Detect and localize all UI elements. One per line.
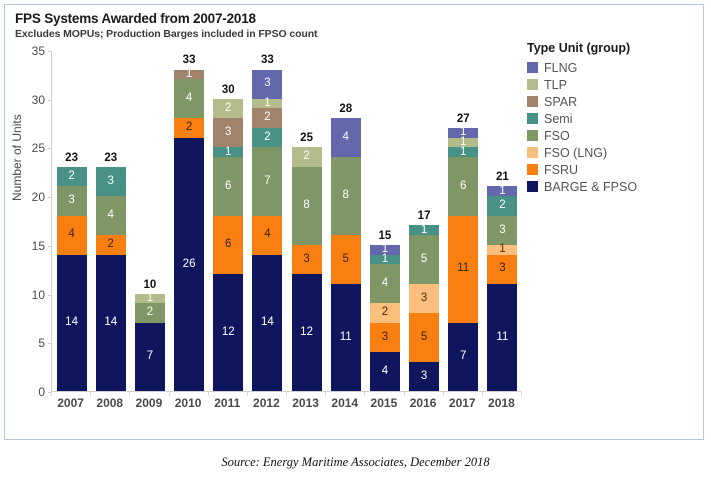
bar-segment-value: 4 xyxy=(343,132,349,144)
bar-segment[interactable]: 14 xyxy=(252,255,282,391)
legend-item-label: FSO xyxy=(544,129,570,143)
bar-total-label: 33 xyxy=(252,54,282,66)
chart-subtitle: Excludes MOPUs; Production Barges includ… xyxy=(15,28,317,40)
x-axis-tick-mark xyxy=(482,392,483,396)
y-axis-tick-label: 5 xyxy=(38,336,45,350)
x-axis-tick-label: 2014 xyxy=(330,396,360,410)
bar-column[interactable]: 432411 xyxy=(370,245,400,391)
bar-column[interactable]: 721 xyxy=(135,294,165,391)
legend-item[interactable]: Semi xyxy=(527,110,697,127)
bar-segment[interactable]: 3 xyxy=(213,118,243,147)
legend-title: Type Unit (group) xyxy=(527,41,697,55)
bar-column[interactable]: 14472213 xyxy=(252,70,282,391)
y-axis-tick-label: 15 xyxy=(32,239,45,253)
x-axis-tick-label: 2007 xyxy=(56,396,86,410)
bar-segment-value: 2 xyxy=(186,122,192,134)
y-axis-tick-label: 35 xyxy=(32,44,45,58)
bar-segment-value: 8 xyxy=(303,200,309,212)
source-note: Source: Energy Maritime Associates, Dece… xyxy=(0,455,711,470)
bar-segment[interactable]: 3 xyxy=(409,284,439,313)
bar-segment[interactable]: 4 xyxy=(174,79,204,118)
bar-segment[interactable]: 14 xyxy=(96,255,126,391)
bar-column[interactable]: 7116111 xyxy=(448,128,478,391)
bar-segment[interactable]: 3 xyxy=(96,167,126,196)
bar-total-label: 15 xyxy=(370,230,400,242)
bar-segment[interactable]: 1 xyxy=(252,99,282,109)
bar-total-label: 33 xyxy=(174,54,204,66)
bar-segment-value: 2 xyxy=(108,239,114,251)
bar-segment[interactable]: 1 xyxy=(370,245,400,255)
bar-segment-value: 1 xyxy=(264,98,270,110)
bar-segment[interactable]: 12 xyxy=(213,274,243,391)
bar-segment-value: 3 xyxy=(303,254,309,266)
bar-total-label: 28 xyxy=(331,103,361,115)
x-axis-tick-mark xyxy=(521,392,522,396)
x-axis-tick-mark xyxy=(208,392,209,396)
x-axis-tick-mark xyxy=(325,392,326,396)
bar-segment[interactable]: 2 xyxy=(213,99,243,118)
bar-segment[interactable]: 5 xyxy=(409,235,439,284)
bar-segment[interactable]: 11 xyxy=(487,284,517,391)
bar-segment[interactable]: 1 xyxy=(409,225,439,235)
bar-segment[interactable]: 4 xyxy=(252,216,282,255)
y-axis-tick-label: 10 xyxy=(32,288,45,302)
bar-column[interactable]: 26241 xyxy=(174,70,204,392)
y-axis-tick-label: 25 xyxy=(32,141,45,155)
bar-column[interactable]: 35351 xyxy=(409,225,439,391)
bar-segment[interactable]: 4 xyxy=(370,264,400,303)
bar-column[interactable]: 14243 xyxy=(96,167,126,391)
bar-segment[interactable]: 1 xyxy=(448,128,478,138)
bar-segment-value: 5 xyxy=(421,332,427,344)
bar-segment-value: 2 xyxy=(68,171,74,183)
bar-segment-value: 2 xyxy=(264,132,270,144)
x-axis-tick-label: 2017 xyxy=(447,396,477,410)
bar-segment-value: 4 xyxy=(186,93,192,105)
x-axis-tick-mark xyxy=(51,392,52,396)
bar-segment-value: 3 xyxy=(421,293,427,305)
legend-item[interactable]: FSO xyxy=(527,127,697,144)
bar-total-label: 23 xyxy=(57,152,87,164)
bar-segment-value: 1 xyxy=(147,293,153,305)
bar-segment-value: 1 xyxy=(421,225,427,237)
bar-segment[interactable]: 3 xyxy=(487,255,517,284)
bar-segment-value: 4 xyxy=(264,229,270,241)
bar-segment[interactable]: 4 xyxy=(331,118,361,157)
bar-segment-value: 3 xyxy=(382,332,388,344)
bar-segment[interactable]: 1 xyxy=(174,70,204,80)
bar-segment-value: 5 xyxy=(421,254,427,266)
bar-segment[interactable]: 8 xyxy=(292,167,322,245)
bar-segment-value: 2 xyxy=(225,103,231,115)
x-axis-tick-mark xyxy=(443,392,444,396)
legend-swatch xyxy=(527,164,538,175)
bar-segment-value: 3 xyxy=(264,78,270,90)
bar-segment[interactable]: 11 xyxy=(331,284,361,391)
x-axis-tick-label: 2016 xyxy=(408,396,438,410)
legend-item-label: TLP xyxy=(544,78,567,92)
bar-segment-value: 4 xyxy=(68,229,74,241)
x-axis-tick-mark xyxy=(129,392,130,396)
bar-segment-value: 26 xyxy=(183,259,196,271)
bar-segment[interactable]: 6 xyxy=(448,157,478,215)
bar-segment[interactable]: 3 xyxy=(292,245,322,274)
x-axis-tick-mark xyxy=(286,392,287,396)
y-axis-tick-label: 20 xyxy=(32,190,45,204)
legend-item[interactable]: FLNG xyxy=(527,59,697,76)
bar-segment-value: 1 xyxy=(460,127,466,139)
y-axis-tick-label: 0 xyxy=(38,385,45,399)
legend-swatch xyxy=(527,130,538,141)
bar-segment[interactable]: 3 xyxy=(487,216,517,245)
chart-title: FPS Systems Awarded from 2007-2018 xyxy=(15,11,256,26)
bar-segment-value: 14 xyxy=(65,317,78,329)
bar-total-label: 21 xyxy=(487,171,517,183)
x-axis-tick-label: 2015 xyxy=(369,396,399,410)
bar-column[interactable]: 1266132 xyxy=(213,99,243,391)
bar-segment-value: 3 xyxy=(68,195,74,207)
x-axis-tick-mark xyxy=(169,392,170,396)
bar-segment-value: 14 xyxy=(104,317,117,329)
legend-item[interactable]: TLP xyxy=(527,76,697,93)
legend-item-label: SPAR xyxy=(544,95,577,109)
bar-segment[interactable]: 5 xyxy=(331,235,361,284)
legend-item[interactable]: SPAR xyxy=(527,93,697,110)
bar-series-container: 1443223142432372110262413312661323014472… xyxy=(52,50,521,391)
x-axis-tick-label: 2018 xyxy=(486,396,516,410)
bar-segment-value: 2 xyxy=(499,200,505,212)
bar-segment-value: 6 xyxy=(225,181,231,193)
bar-total-label: 25 xyxy=(292,132,322,144)
bar-segment[interactable]: 3 xyxy=(409,362,439,391)
bar-segment[interactable]: 4 xyxy=(57,216,87,255)
x-axis-tick-label: 2013 xyxy=(291,396,321,410)
bar-segment-value: 2 xyxy=(264,112,270,124)
legend-item[interactable]: BARGE & FPSO xyxy=(527,178,697,195)
bar-segment-value: 11 xyxy=(457,263,469,275)
bar-segment-value: 1 xyxy=(186,69,192,81)
bar-segment-value: 12 xyxy=(300,327,313,339)
bar-segment[interactable]: 2 xyxy=(174,118,204,137)
bar-segment-value: 4 xyxy=(382,278,388,290)
bar-segment-value: 3 xyxy=(499,225,505,237)
legend-item-label: FSO (LNG) xyxy=(544,146,607,160)
bar-segment[interactable]: 1 xyxy=(135,294,165,304)
x-axis-tick-mark xyxy=(364,392,365,396)
bar-segment-value: 8 xyxy=(343,190,349,202)
bar-column[interactable]: 12382 xyxy=(292,147,322,391)
bar-segment-value: 2 xyxy=(147,307,153,319)
bar-segment[interactable]: 4 xyxy=(96,196,126,235)
legend: Type Unit (group) FLNGTLPSPARSemiFSOFSO … xyxy=(527,41,697,195)
bar-segment[interactable]: 2 xyxy=(292,147,322,166)
bar-segment-value: 12 xyxy=(222,327,235,339)
legend-items: FLNGTLPSPARSemiFSOFSO (LNG)FSRUBARGE & F… xyxy=(527,59,697,195)
legend-item-label: FSRU xyxy=(544,163,578,177)
legend-item-label: BARGE & FPSO xyxy=(544,180,637,194)
bar-total-label: 27 xyxy=(448,113,478,125)
plot-wrapper: Number of Units 05101520253035 144322314… xyxy=(51,51,521,411)
bar-column[interactable]: 14432 xyxy=(57,167,87,391)
bar-segment[interactable]: 1 xyxy=(487,245,517,255)
bar-segment[interactable]: 2 xyxy=(96,235,126,254)
bar-segment-value: 1 xyxy=(499,244,505,256)
bar-segment-value: 2 xyxy=(303,151,309,163)
legend-item[interactable]: FSRU xyxy=(527,161,697,178)
bar-segment-value: 6 xyxy=(460,181,466,193)
bar-segment[interactable]: 1 xyxy=(448,138,478,148)
bar-total-label: 10 xyxy=(135,279,165,291)
x-axis-tick-label: 2009 xyxy=(134,396,164,410)
bar-segment[interactable]: 6 xyxy=(213,216,243,274)
y-axis-label: Number of Units xyxy=(10,114,24,201)
bar-segment-value: 7 xyxy=(264,176,270,188)
bar-total-label: 30 xyxy=(213,84,243,96)
bar-segment-value: 14 xyxy=(261,317,274,329)
bar-segment[interactable]: 12 xyxy=(292,274,322,391)
bar-segment[interactable]: 5 xyxy=(409,313,439,362)
bar-segment-value: 3 xyxy=(421,371,427,383)
bar-segment[interactable]: 1 xyxy=(448,147,478,157)
legend-swatch xyxy=(527,113,538,124)
bar-segment-value: 11 xyxy=(340,332,352,344)
x-axis-tick-label: 2012 xyxy=(251,396,281,410)
bar-segment-value: 1 xyxy=(225,147,231,159)
bar-segment[interactable]: 4 xyxy=(370,352,400,391)
bar-segment[interactable]: 1 xyxy=(370,255,400,265)
bar-segment[interactable]: 14 xyxy=(57,255,87,391)
chart-frame: FPS Systems Awarded from 2007-2018 Exclu… xyxy=(4,4,704,440)
bar-segment-value: 7 xyxy=(460,351,466,363)
x-axis-tick-label: 2008 xyxy=(95,396,125,410)
bar-segment[interactable]: 7 xyxy=(448,323,478,391)
bar-segment[interactable]: 6 xyxy=(213,157,243,215)
bar-segment[interactable]: 2 xyxy=(57,167,87,186)
bar-segment-value: 11 xyxy=(496,332,508,344)
bar-segment[interactable]: 3 xyxy=(252,70,282,99)
bar-segment-value: 2 xyxy=(382,307,388,319)
legend-swatch xyxy=(527,96,538,107)
bar-segment[interactable]: 3 xyxy=(370,323,400,352)
legend-swatch xyxy=(527,79,538,90)
x-axis-tick-mark xyxy=(90,392,91,396)
bar-segment-value: 3 xyxy=(108,176,114,188)
legend-swatch xyxy=(527,147,538,158)
bar-total-label: 23 xyxy=(96,152,126,164)
bar-segment-value: 7 xyxy=(147,351,153,363)
plot-area: 05101520253035 1443223142432372110262413… xyxy=(51,51,521,392)
legend-item[interactable]: FSO (LNG) xyxy=(527,144,697,161)
bar-segment-value: 3 xyxy=(225,127,231,139)
bar-segment[interactable]: 11 xyxy=(448,216,478,323)
bar-segment[interactable]: 7 xyxy=(252,147,282,215)
bar-segment[interactable]: 26 xyxy=(174,138,204,391)
legend-item-label: Semi xyxy=(544,112,572,126)
bar-column[interactable]: 11584 xyxy=(331,118,361,391)
bar-segment[interactable]: 2 xyxy=(487,196,517,215)
bar-segment[interactable]: 7 xyxy=(135,323,165,391)
bar-total-label: 17 xyxy=(409,210,439,222)
bar-segment-value: 1 xyxy=(382,244,388,256)
x-axis-tick-mark xyxy=(404,392,405,396)
bar-segment[interactable]: 1 xyxy=(213,147,243,157)
bar-segment[interactable]: 2 xyxy=(370,303,400,322)
bar-segment-value: 5 xyxy=(343,254,349,266)
bar-segment-value: 3 xyxy=(499,263,505,275)
x-axis-tick-mark xyxy=(247,392,248,396)
bar-segment-value: 6 xyxy=(225,239,231,251)
bar-segment[interactable]: 2 xyxy=(252,128,282,147)
legend-swatch xyxy=(527,62,538,73)
bar-segment-value: 4 xyxy=(108,210,114,222)
y-axis-tick-label: 30 xyxy=(32,93,45,107)
bar-segment-value: 4 xyxy=(382,366,388,378)
bar-segment[interactable]: 3 xyxy=(57,186,87,215)
legend-swatch xyxy=(527,181,538,192)
bar-segment[interactable]: 8 xyxy=(331,157,361,235)
legend-item-label: FLNG xyxy=(544,61,577,75)
bar-column[interactable]: 1131321 xyxy=(487,186,517,391)
bar-segment[interactable]: 1 xyxy=(487,186,517,196)
x-axis-tick-label: 2011 xyxy=(212,396,242,410)
x-axis-tick-label: 2010 xyxy=(173,396,203,410)
bar-segment[interactable]: 2 xyxy=(135,303,165,322)
bar-segment-value: 1 xyxy=(499,186,505,198)
bar-segment[interactable]: 2 xyxy=(252,108,282,127)
